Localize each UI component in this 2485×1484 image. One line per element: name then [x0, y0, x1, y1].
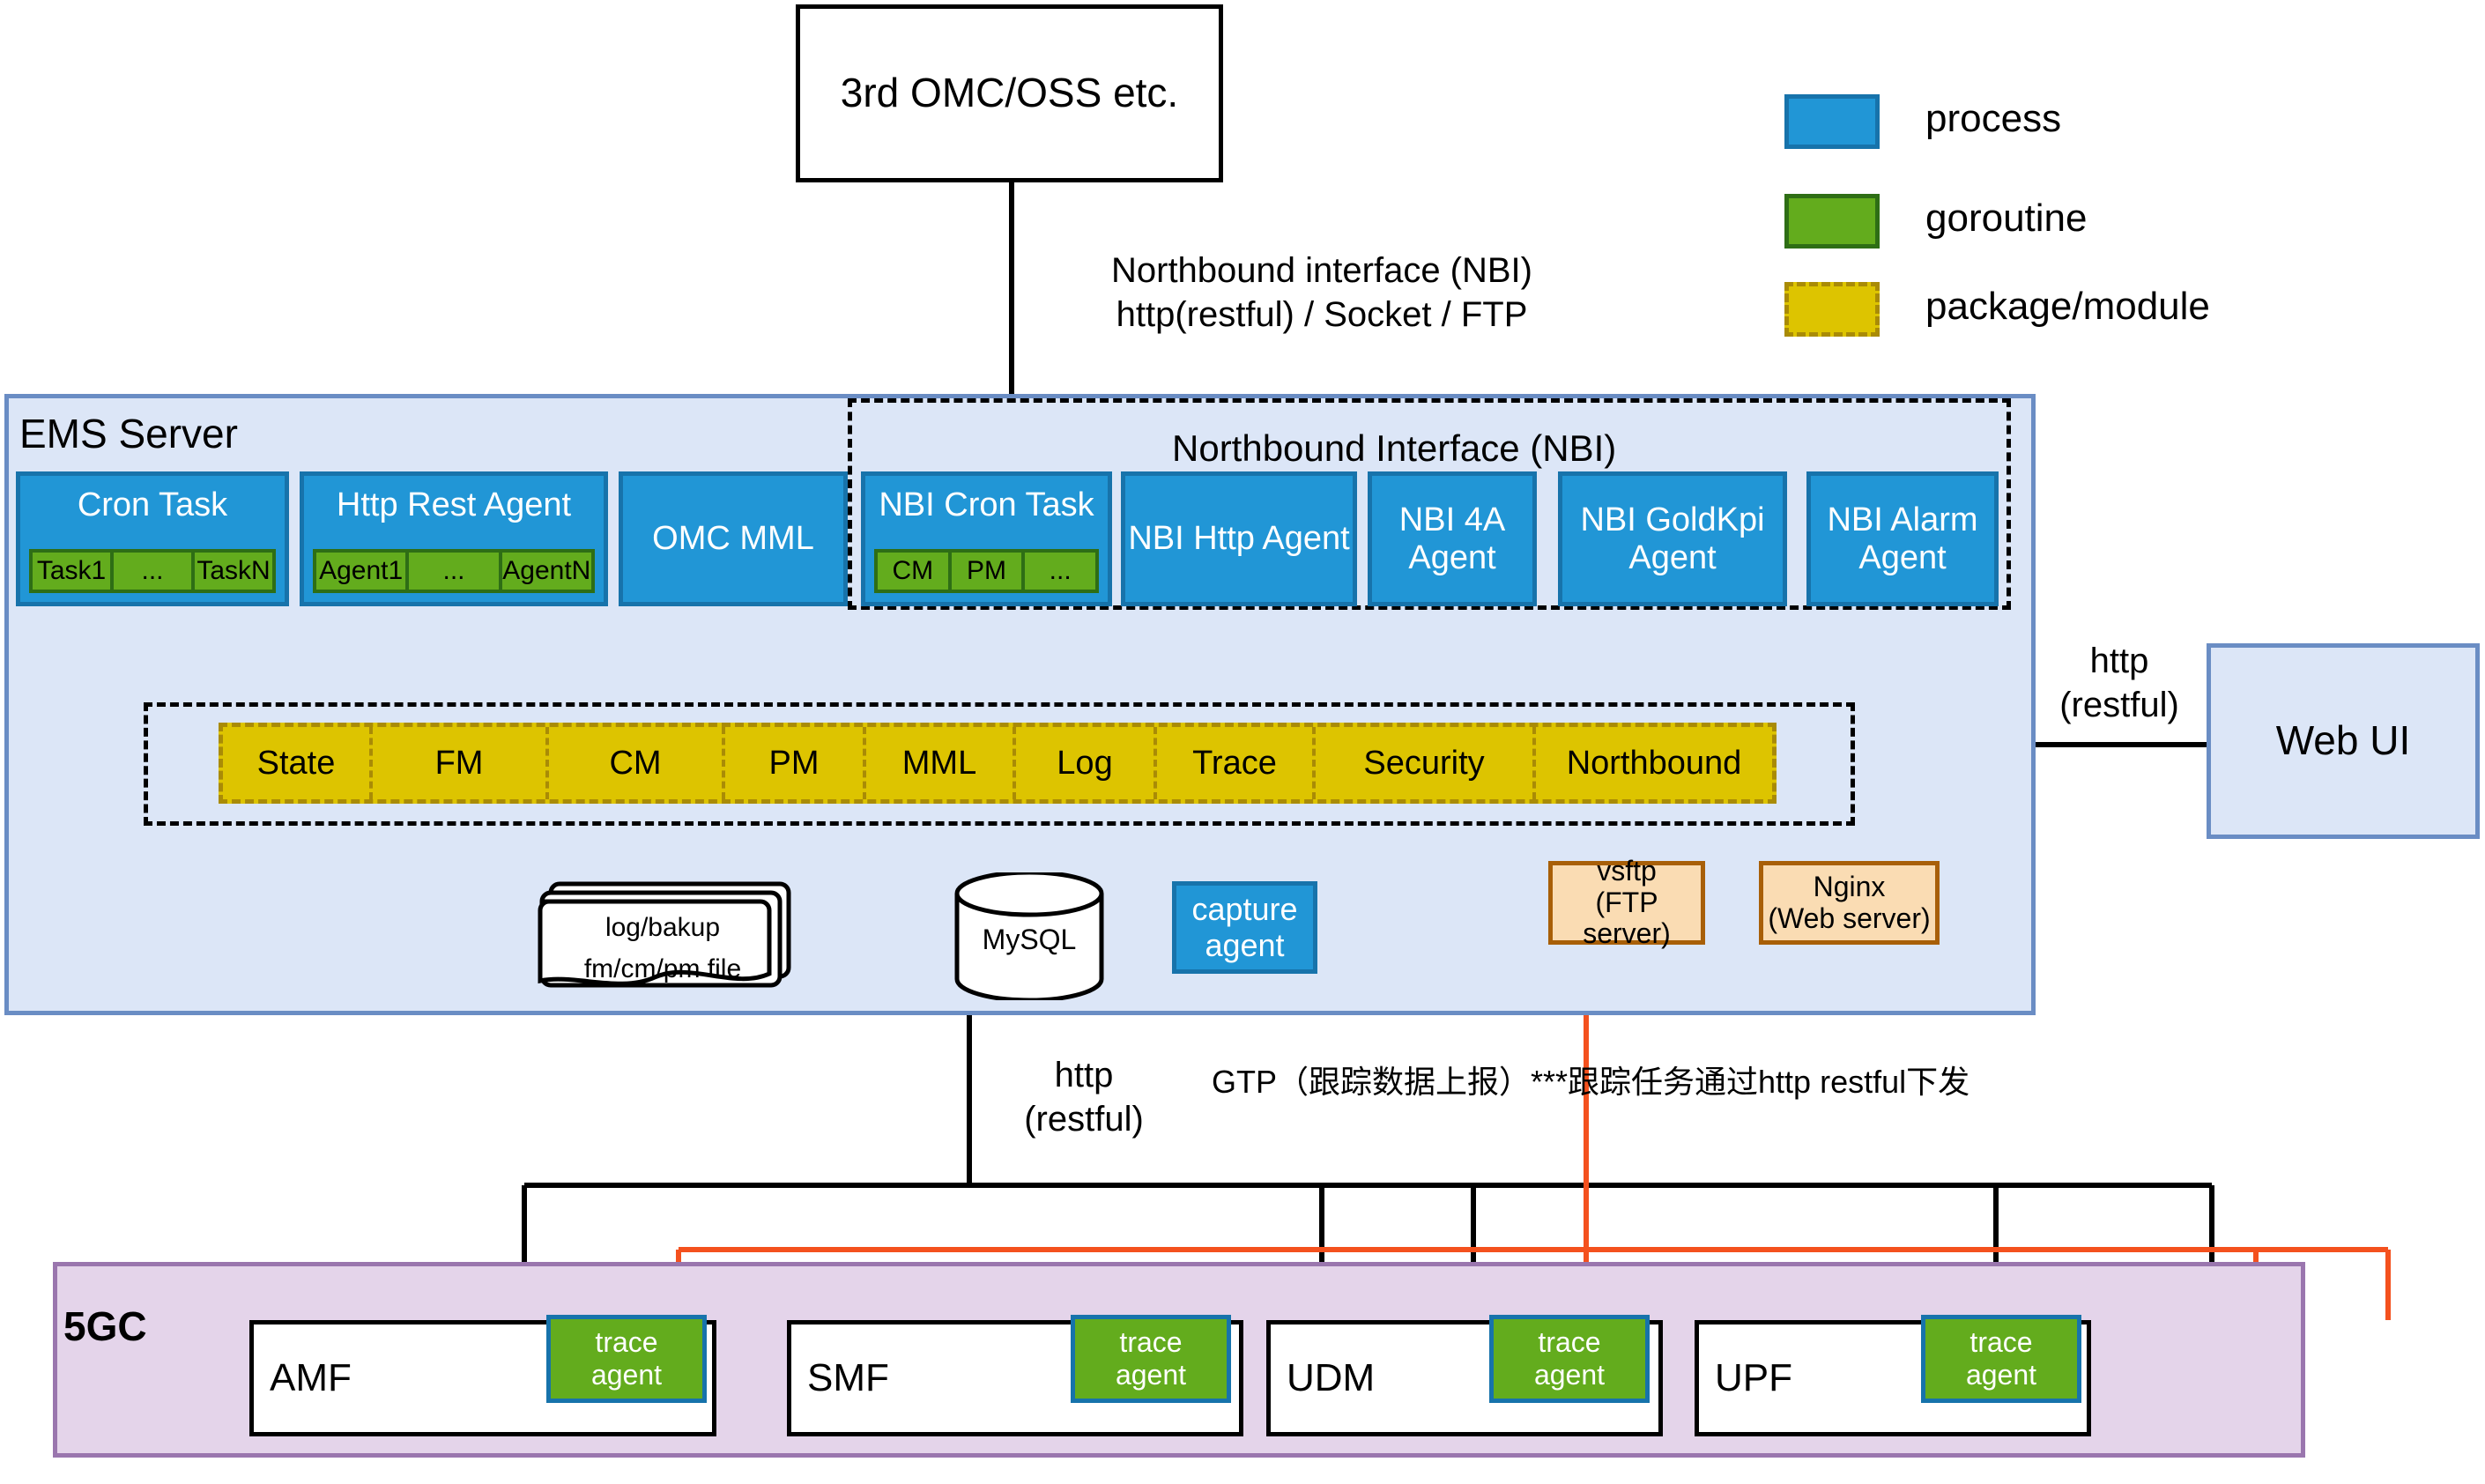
- process-http-rest-agent[interactable]: Http Rest Agent Agent1 ... AgentN: [300, 471, 608, 606]
- nf-node-upf-label: UPF: [1715, 1356, 1792, 1400]
- nf-node-amf-label: AMF: [270, 1356, 352, 1400]
- process-cron-task-label: Cron Task: [20, 486, 285, 524]
- trace-agent-line2: agent: [591, 1359, 662, 1391]
- trace-agent-line2: agent: [1966, 1359, 2036, 1391]
- module-log[interactable]: Log: [1016, 727, 1157, 799]
- trace-agent-line2: agent: [1116, 1359, 1186, 1391]
- module-security[interactable]: Security: [1316, 727, 1536, 799]
- capture-agent-line2: agent: [1205, 928, 1284, 963]
- file-store-line1: log/bakup: [517, 913, 808, 943]
- module-mml[interactable]: MML: [866, 727, 1016, 799]
- mysql-label: MySQL: [950, 924, 1109, 956]
- http-restful-link-label: http (restful): [996, 1053, 1172, 1141]
- module-state[interactable]: State: [223, 727, 373, 799]
- nginx-line1: Nginx: [1814, 872, 1886, 903]
- legend-swatch-goroutine: [1784, 194, 1880, 249]
- goroutine-cell[interactable]: ...: [1025, 553, 1095, 590]
- trace-agent-upf[interactable]: trace agent: [1921, 1315, 2081, 1403]
- process-nbi-cron-task[interactable]: NBI Cron Task CM PM ...: [861, 471, 1112, 606]
- trace-agent-smf[interactable]: trace agent: [1071, 1315, 1231, 1403]
- trace-agent-line2: agent: [1534, 1359, 1605, 1391]
- legend-label-process: process: [1925, 97, 2061, 141]
- goroutine-strip-nbi-cron-task: CM PM ...: [874, 549, 1099, 593]
- goroutine-cell[interactable]: AgentN: [502, 553, 591, 590]
- web-ui-label: Web UI: [2276, 718, 2411, 764]
- nbi-link-label: Northbound interface (NBI) http(restful)…: [1049, 249, 1595, 337]
- process-nbi-http-agent-label: NBI Http Agent: [1125, 520, 1353, 558]
- ems-server-title: EMS Server: [19, 410, 238, 457]
- trace-agent-udm[interactable]: trace agent: [1489, 1315, 1650, 1403]
- vsftp-line1: vsftp: [1597, 856, 1657, 887]
- file-store-stack: log/bakup fm/cm/pm file: [533, 862, 824, 994]
- capture-agent-box[interactable]: capture agent: [1172, 881, 1317, 974]
- capture-agent-line1: capture: [1191, 892, 1297, 927]
- nginx-server-box[interactable]: Nginx (Web server): [1759, 861, 1940, 945]
- legend-label-goroutine: goroutine: [1925, 197, 2087, 241]
- web-ui-box[interactable]: Web UI: [2207, 643, 2480, 839]
- goroutine-cell[interactable]: ...: [409, 553, 501, 590]
- diagram-canvas: 3rd OMC/OSS etc. Northbound interface (N…: [0, 0, 2485, 1484]
- file-store-line2: fm/cm/pm file: [517, 954, 808, 984]
- process-nbi-http-agent[interactable]: NBI Http Agent: [1121, 471, 1357, 606]
- module-pm[interactable]: PM: [725, 727, 866, 799]
- vsftp-server-box[interactable]: vsftp (FTP server): [1548, 861, 1705, 945]
- process-nbi-cron-task-label: NBI Cron Task: [865, 486, 1108, 524]
- process-cron-task[interactable]: Cron Task Task1 ... TaskN: [16, 471, 289, 606]
- webui-link-label: http (restful): [2036, 639, 2203, 727]
- module-cm[interactable]: CM: [549, 727, 725, 799]
- external-oss-box[interactable]: 3rd OMC/OSS etc.: [796, 4, 1223, 182]
- process-nbi-goldkpi-agent-label: NBI GoldKpi Agent: [1562, 501, 1783, 576]
- module-fm[interactable]: FM: [373, 727, 549, 799]
- nf-node-udm-label: UDM: [1287, 1356, 1375, 1400]
- process-http-rest-agent-label: Http Rest Agent: [304, 486, 604, 524]
- process-nbi-goldkpi-agent[interactable]: NBI GoldKpi Agent: [1558, 471, 1787, 606]
- process-nbi-4a-agent[interactable]: NBI 4A Agent: [1368, 471, 1537, 606]
- module-northbound[interactable]: Northbound: [1536, 727, 1772, 799]
- core-5gc-title: 5GC: [63, 1302, 147, 1350]
- goroutine-cell[interactable]: ...: [114, 553, 195, 590]
- mysql-database[interactable]: MySQL: [950, 872, 1109, 1000]
- trace-agent-line1: trace: [1538, 1326, 1600, 1359]
- gtp-note-label: GTP（跟踪数据上报）***跟踪任务通过http restful下发: [1212, 1062, 2102, 1102]
- nf-node-smf-label: SMF: [807, 1356, 889, 1400]
- goroutine-cell[interactable]: Task1: [33, 553, 114, 590]
- goroutine-strip-cron-task: Task1 ... TaskN: [29, 549, 276, 593]
- goroutine-cell[interactable]: TaskN: [195, 553, 272, 590]
- goroutine-cell[interactable]: PM: [952, 553, 1026, 590]
- nbi-group-title: Northbound Interface (NBI): [1172, 427, 1616, 470]
- goroutine-strip-http-rest-agent: Agent1 ... AgentN: [313, 549, 595, 593]
- process-omc-mml-label: OMC MML: [623, 520, 843, 558]
- process-omc-mml[interactable]: OMC MML: [619, 471, 848, 606]
- external-oss-label: 3rd OMC/OSS etc.: [841, 70, 1178, 116]
- legend-swatch-process: [1784, 94, 1880, 149]
- nginx-line2: (Web server): [1768, 903, 1930, 935]
- trace-agent-line1: trace: [595, 1326, 657, 1359]
- process-nbi-alarm-agent[interactable]: NBI Alarm Agent: [1806, 471, 1999, 606]
- module-bar: State FM CM PM MML Log Trace Security No…: [219, 723, 1777, 804]
- goroutine-cell[interactable]: CM: [878, 553, 952, 590]
- trace-agent-amf[interactable]: trace agent: [546, 1315, 707, 1403]
- vsftp-line2: (FTP server): [1553, 887, 1701, 951]
- trace-agent-line1: trace: [1119, 1326, 1182, 1359]
- goroutine-cell[interactable]: Agent1: [316, 553, 409, 590]
- process-nbi-alarm-agent-label: NBI Alarm Agent: [1811, 501, 1994, 576]
- legend-swatch-module: [1784, 282, 1880, 337]
- trace-agent-line1: trace: [1969, 1326, 2032, 1359]
- process-nbi-4a-agent-label: NBI 4A Agent: [1372, 501, 1532, 576]
- module-trace[interactable]: Trace: [1157, 727, 1316, 799]
- legend-label-module: package/module: [1925, 285, 2210, 329]
